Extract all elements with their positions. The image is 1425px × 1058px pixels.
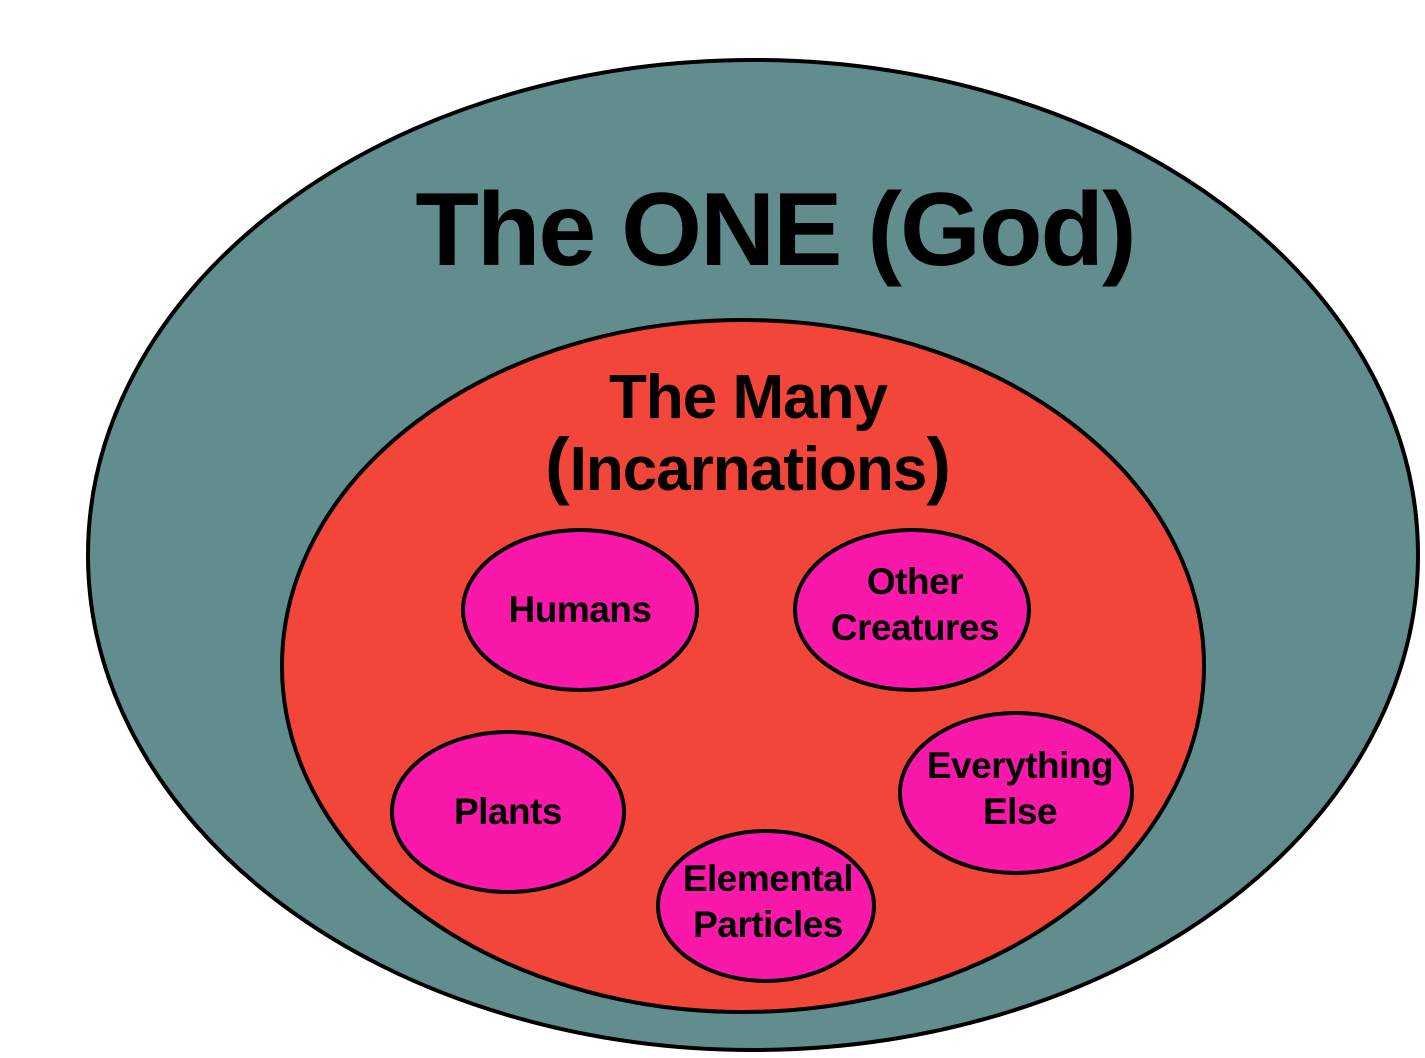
leaf-other-creatures[interactable]: Other Creatures: [795, 530, 1029, 690]
nested-ellipse-diagram: The ONE (God) The Many (Incarnations) Hu…: [0, 0, 1425, 1058]
leaf-everything-else[interactable]: Everything Else: [900, 713, 1132, 873]
diagram-canvas: The ONE (God) The Many (Incarnations) Hu…: [0, 0, 1425, 1058]
middle-label-paren-close: ): [926, 423, 951, 506]
leaf-humans[interactable]: Humans: [463, 530, 697, 690]
leaf-elemental-particles-label-line1: Elemental: [683, 858, 853, 899]
middle-set-label-line1: The Many: [609, 363, 888, 432]
outer-set-label: The ONE (God): [415, 172, 1134, 288]
leaf-other-creatures-label-line1: Other: [867, 561, 963, 602]
leaf-plants[interactable]: Plants: [392, 732, 624, 892]
middle-label-paren-open: (: [545, 423, 570, 506]
leaf-everything-else-label-line1: Everything: [927, 745, 1113, 786]
leaf-plants-label: Plants: [454, 791, 562, 832]
leaf-other-creatures-label-line2: Creatures: [831, 607, 999, 648]
leaf-everything-else-label-line2: Else: [983, 791, 1057, 832]
leaf-elemental-particles-label-line2: Particles: [693, 904, 843, 945]
leaf-humans-label: Humans: [509, 589, 652, 630]
middle-label-paren-text: Incarnations: [570, 435, 927, 504]
leaf-elemental-particles[interactable]: Elemental Particles: [658, 831, 874, 981]
middle-set-label-line2: (Incarnations): [545, 423, 951, 506]
